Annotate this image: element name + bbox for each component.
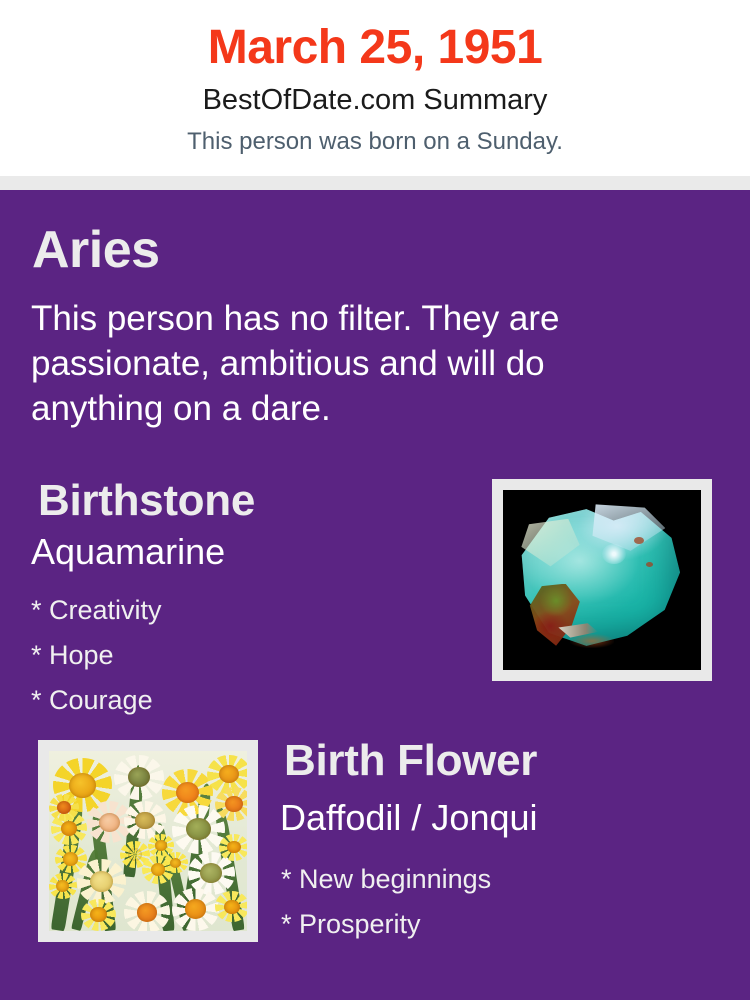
page-header: March 25, 1951 BestOfDate.com Summary Th… bbox=[0, 0, 750, 176]
daffodil-bloom bbox=[81, 899, 117, 931]
summary-card: March 25, 1951 BestOfDate.com Summary Th… bbox=[0, 0, 750, 1000]
list-item: * New beginnings bbox=[281, 857, 491, 902]
daffodil-flowers-image bbox=[49, 751, 247, 931]
list-item: * Prosperity bbox=[281, 902, 491, 947]
list-item: * Creativity bbox=[31, 588, 162, 633]
birth-flower-name: Daffodil / Jonqui bbox=[280, 800, 538, 836]
birthstone-traits-list: * Creativity * Hope * Courage bbox=[31, 588, 162, 723]
daffodil-bloom bbox=[77, 859, 127, 904]
born-day-text: This person was born on a Sunday. bbox=[0, 130, 750, 154]
header-divider bbox=[0, 176, 750, 190]
aquamarine-crystal-image bbox=[503, 490, 701, 670]
zodiac-description: This person has no filter. They are pass… bbox=[31, 296, 661, 431]
list-item: * Hope bbox=[31, 633, 162, 678]
daffodil-bloom bbox=[164, 852, 188, 874]
birth-flower-image-frame bbox=[38, 740, 258, 942]
daffodil-bloom bbox=[215, 891, 247, 922]
daffodil-bloom bbox=[49, 794, 79, 821]
daffodil-bloom bbox=[49, 873, 77, 898]
gem-speck bbox=[634, 537, 644, 544]
list-item: * Courage bbox=[31, 678, 162, 723]
zodiac-sign-title: Aries bbox=[32, 224, 160, 276]
site-name: BestOfDate.com Summary bbox=[0, 86, 750, 115]
gem-highlight bbox=[602, 544, 626, 564]
birthstone-name: Aquamarine bbox=[31, 534, 225, 570]
daffodil-bloom bbox=[114, 755, 164, 800]
gem-lower-glow bbox=[570, 634, 614, 648]
daffodil-bloom bbox=[172, 805, 225, 854]
daffodil-bloom bbox=[219, 834, 247, 861]
birth-flower-traits-list: * New beginnings * Prosperity bbox=[281, 857, 491, 947]
birthstone-heading: Birthstone bbox=[38, 479, 255, 523]
birthstone-image-frame bbox=[492, 479, 712, 681]
birth-flower-heading: Birth Flower bbox=[284, 739, 537, 783]
page-title-date: March 25, 1951 bbox=[0, 24, 750, 72]
daffodil-bloom bbox=[124, 891, 170, 931]
daffodil-bloom bbox=[172, 888, 220, 931]
